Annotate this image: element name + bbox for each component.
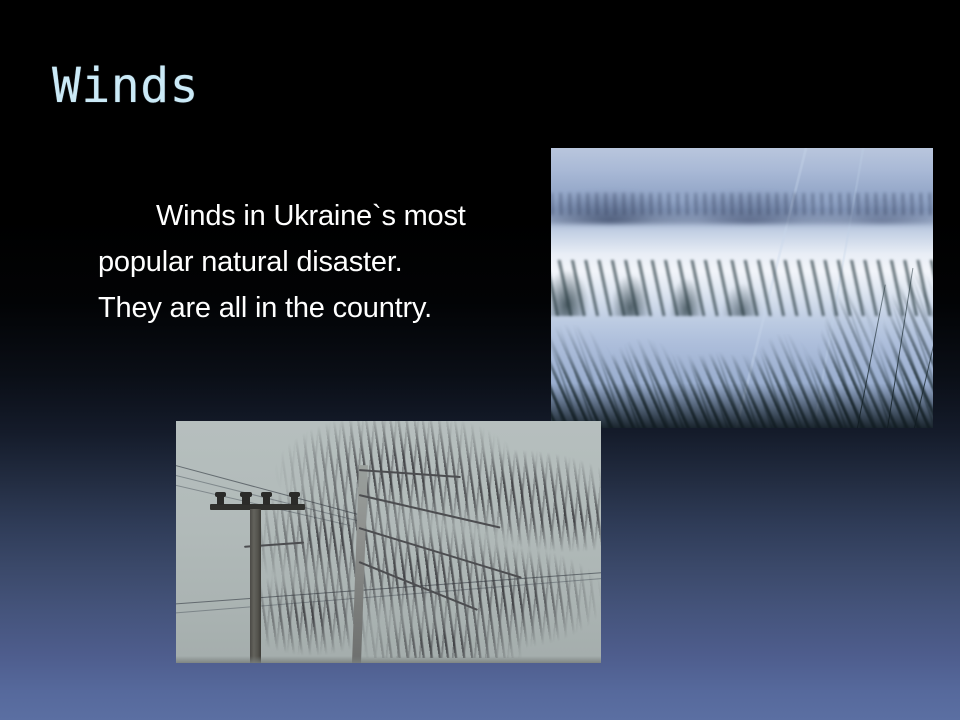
bending-tree-photo (176, 421, 601, 663)
insulator-4 (291, 495, 298, 505)
insulator-2 (242, 495, 249, 505)
tree-canopy (253, 421, 602, 658)
presentation-slide: Winds Winds in Ukraine`s most popular na… (0, 0, 960, 720)
insulator-1 (217, 495, 224, 505)
photo-ground-band (176, 656, 601, 663)
insulator-3 (263, 495, 270, 505)
windy-field-photo (551, 148, 933, 428)
photo-dark-base (551, 383, 933, 428)
page-title: Winds (52, 58, 199, 114)
slide-body-text: Winds in Ukraine`s most popular natural … (98, 193, 470, 331)
ridge-scrub-line (551, 193, 933, 215)
pole-mast (250, 509, 261, 663)
